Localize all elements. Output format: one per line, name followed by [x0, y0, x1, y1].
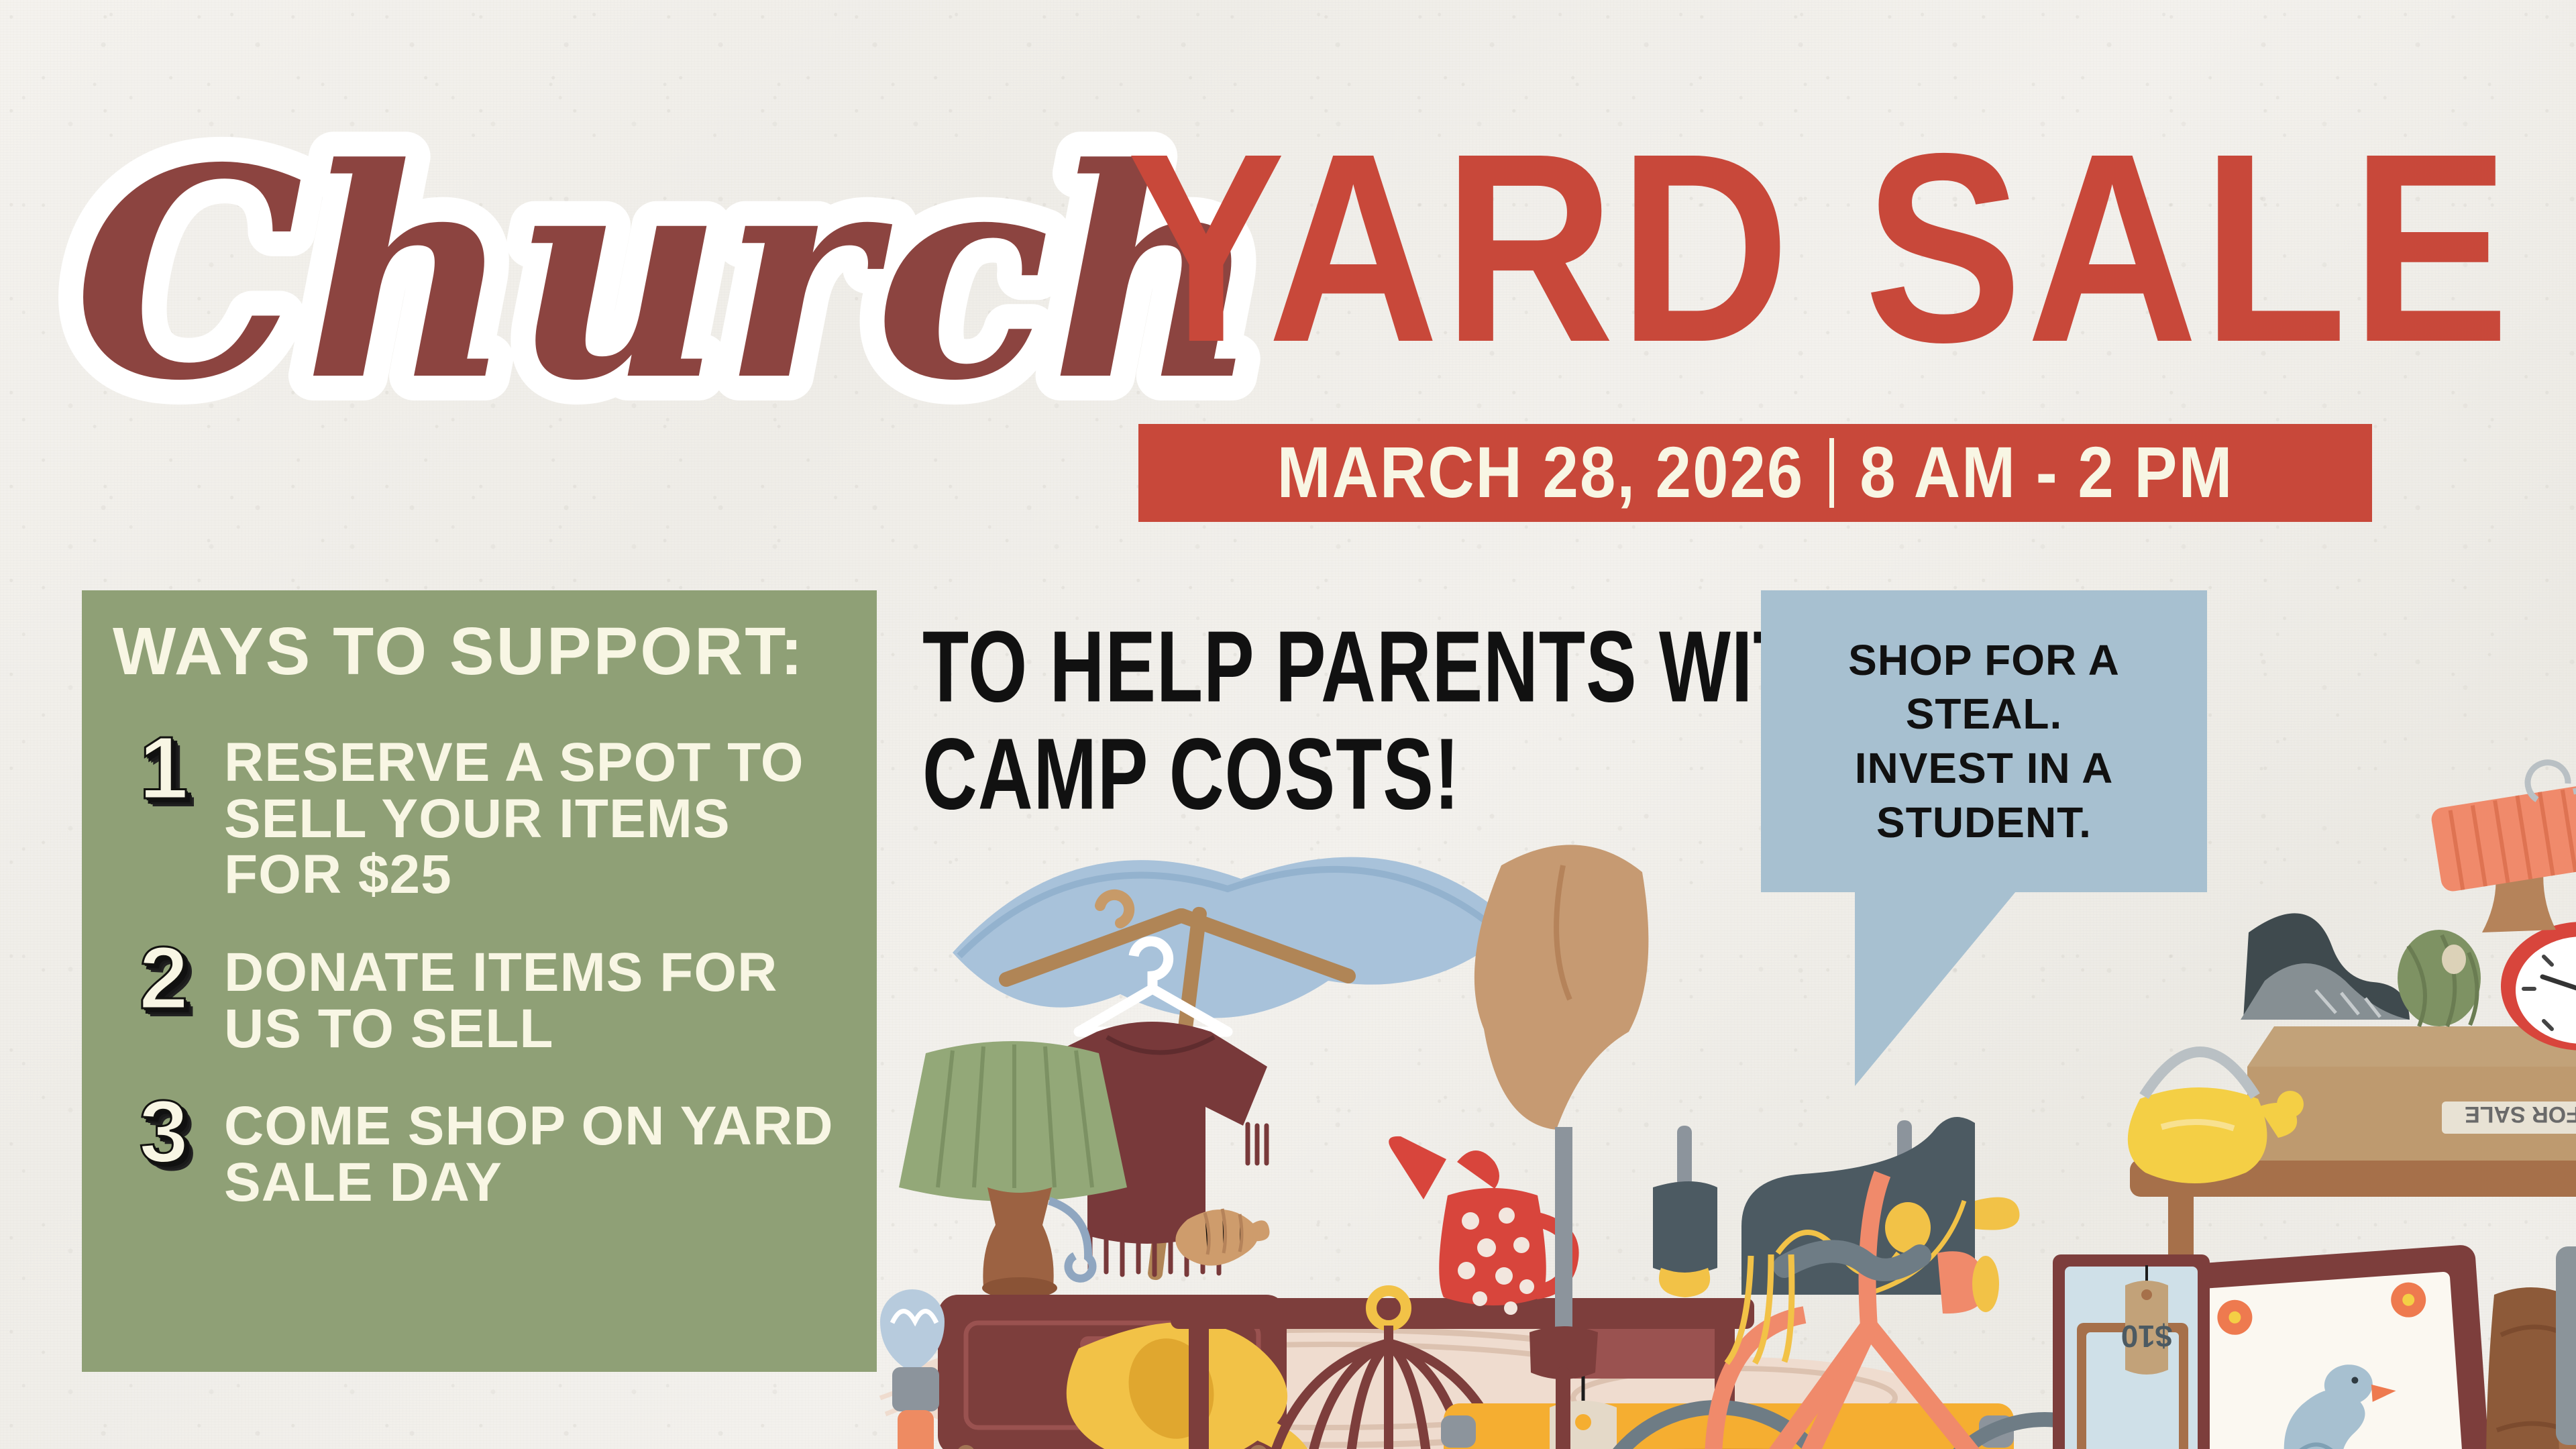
box-label: FOR SALE [2465, 1102, 2576, 1127]
purpose-headline: TO HELP PARENTS WITH CAMP COSTS! [922, 614, 1856, 828]
event-date-bar: MARCH 28, 2026 8 AM - 2 PM [1138, 424, 2372, 522]
yard-sale-headline: YARD SALE [1127, 121, 2438, 453]
yard-sale-illustration-right: FOR SALE [0, 825, 2576, 1449]
tagline-line-2: STEAL. [1906, 687, 2063, 741]
grey-shoe [2241, 913, 2410, 1020]
purpose-line-2: CAMP COSTS! [922, 721, 1856, 828]
ways-to-support-title: WAYS TO SUPPORT: [113, 613, 850, 690]
support-item-number: 1 [126, 724, 201, 812]
purpose-line-1: TO HELP PARENTS WITH [922, 614, 1856, 721]
boombox [2556, 1191, 2576, 1449]
picture-frames: $10 [2053, 1254, 2210, 1449]
event-time: 8 AM - 2 PM [1860, 431, 2233, 514]
tagline-line-3: INVEST IN A [1855, 741, 2114, 796]
yarn-ball [2398, 930, 2481, 1026]
event-date: MARCH 28, 2026 [1277, 431, 1805, 514]
poster-canvas: Church Church YARD SALE MARCH 28, 2026 8… [0, 0, 2576, 1449]
tagline-line-1: SHOP FOR A [1848, 633, 2120, 688]
church-script-fill: Church [74, 105, 1260, 444]
goose-painting [2169, 1244, 2494, 1449]
date-time-divider [1829, 438, 1834, 508]
frame-price: $10 [2121, 1319, 2173, 1354]
orange-sweater [2430, 763, 2576, 932]
church-script-wordmark: Church Church [60, 13, 1201, 543]
